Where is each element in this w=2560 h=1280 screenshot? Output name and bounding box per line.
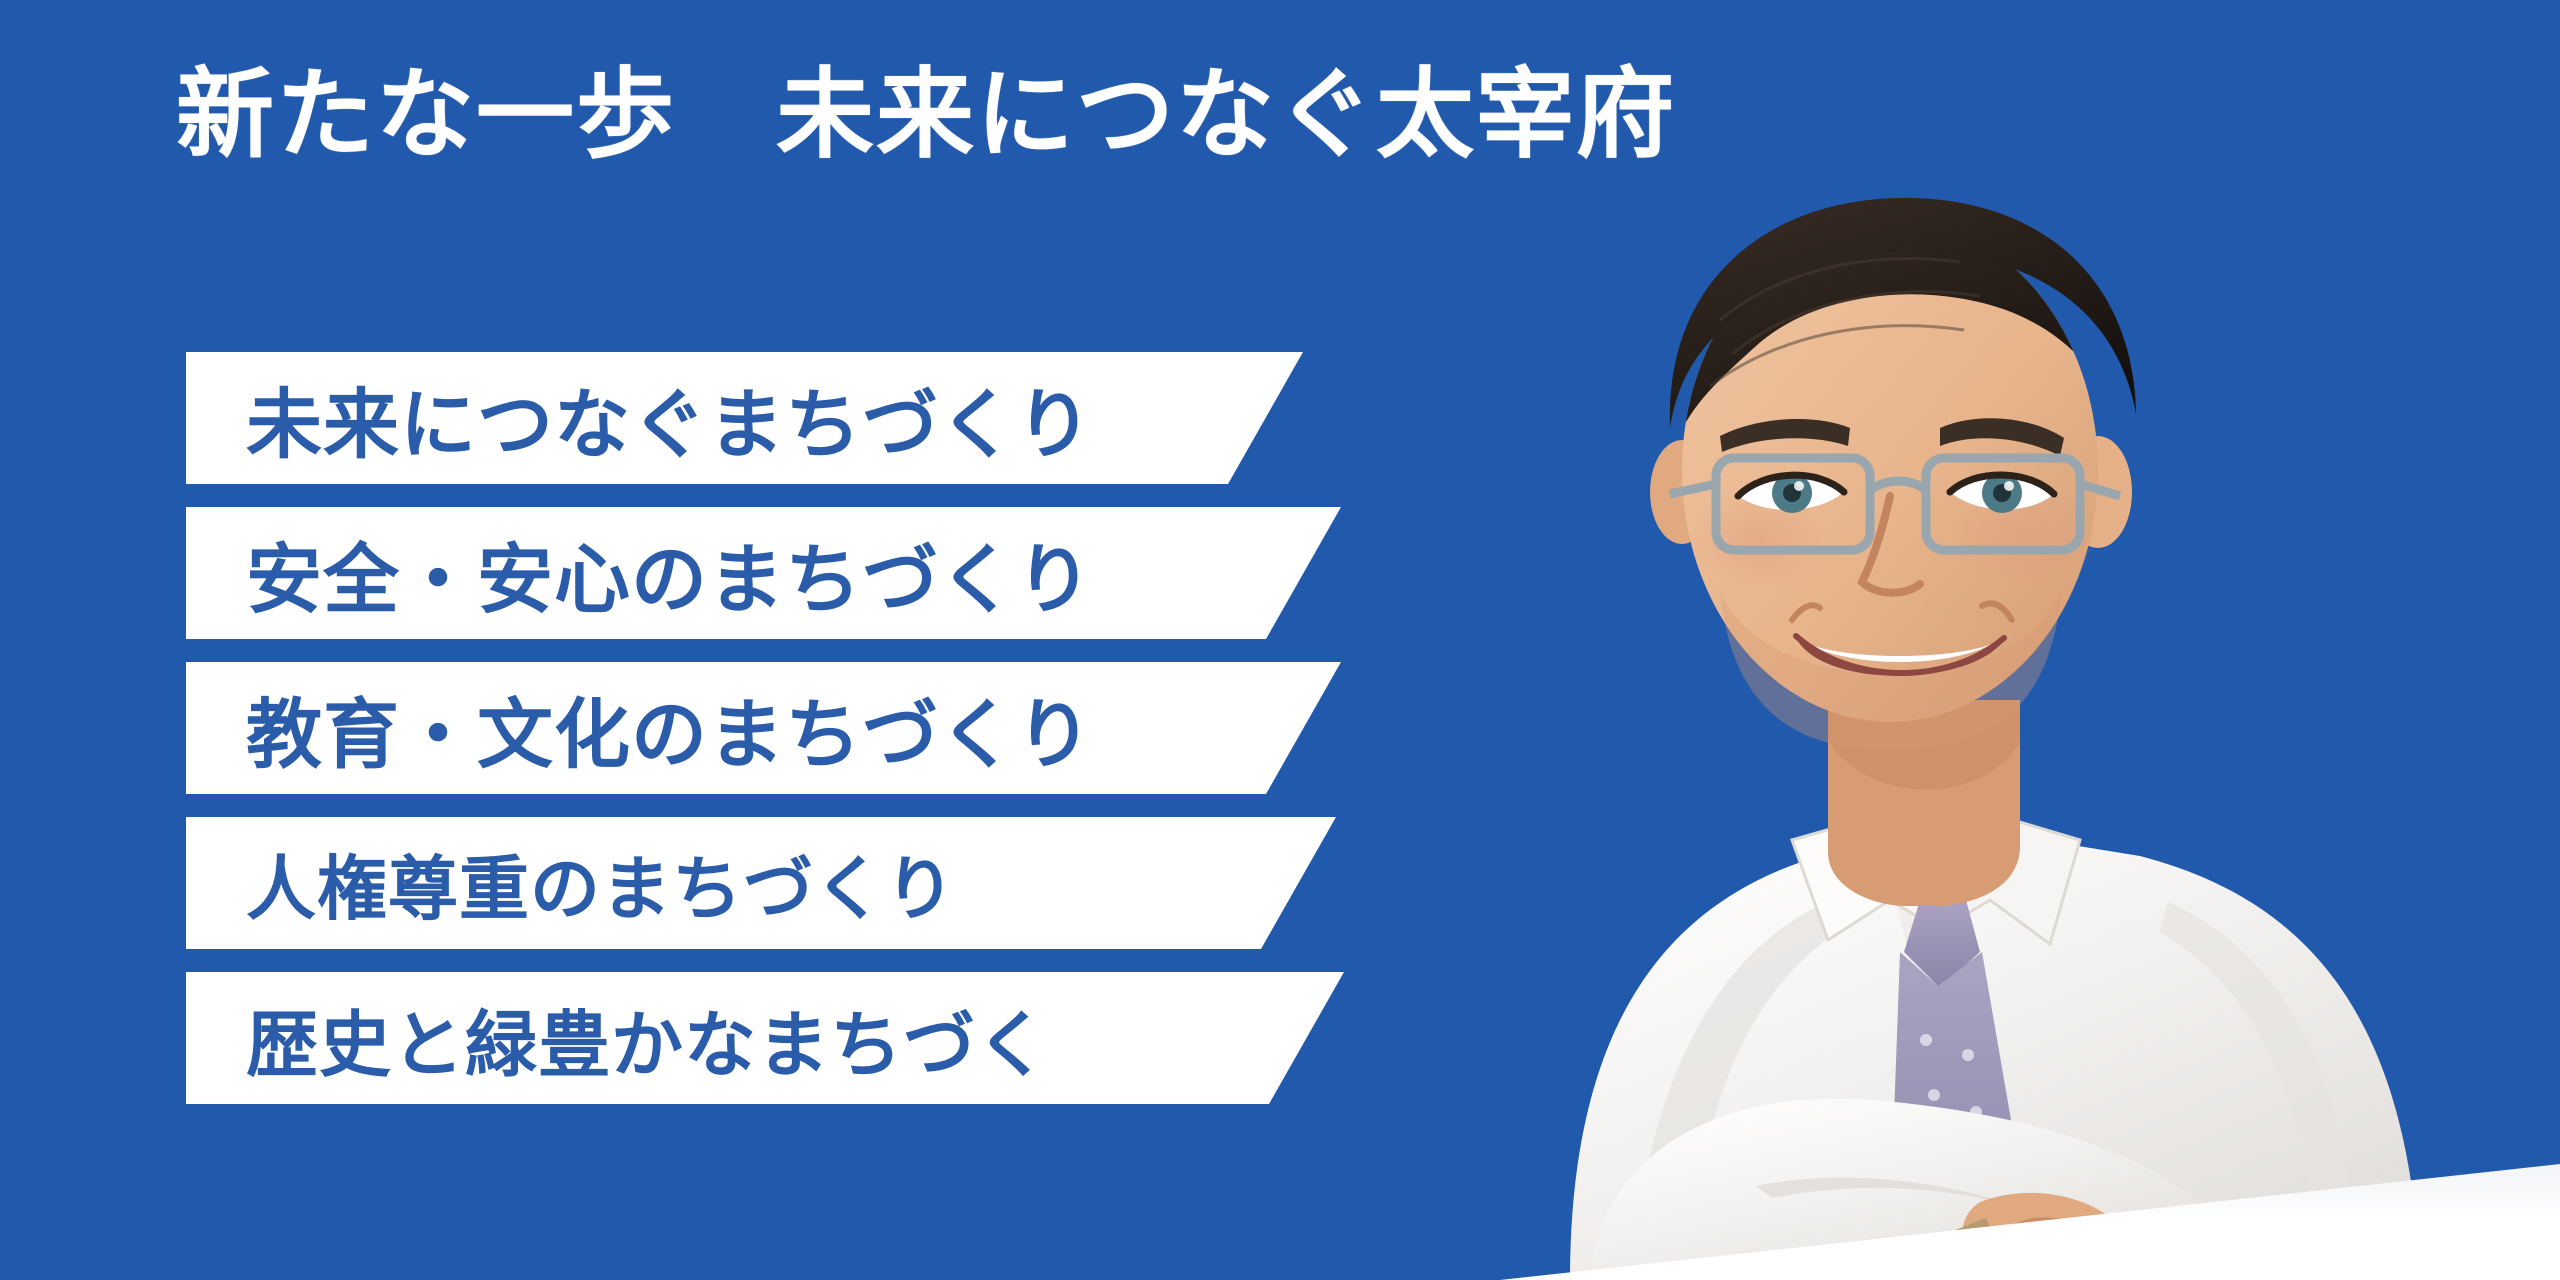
portrait-photo bbox=[1420, 140, 2560, 1280]
policy-banner-item-4[interactable]: 人権尊重のまちづくり bbox=[186, 817, 1093, 949]
face bbox=[1666, 198, 2136, 750]
policy-banner-label: 歴史と緑豊かなまちづく bbox=[246, 986, 1049, 1091]
policy-banner-label: 安全・安心のまちづくり bbox=[246, 518, 1093, 628]
policy-banner-list: 未来につなぐまちづくり 安全・安心のまちづくり 教育・文化のまちづくり 人権尊重… bbox=[186, 352, 1093, 1104]
policy-banner-item-3[interactable]: 教育・文化のまちづくり bbox=[186, 662, 1093, 794]
policy-banner-label: 教育・文化のまちづくり bbox=[246, 673, 1093, 783]
page-title: 新たな一歩 未来につなぐ太宰府 bbox=[176, 62, 1676, 170]
campaign-banner: 新たな一歩 未来につなぐ太宰府 bbox=[0, 0, 2560, 1280]
policy-banner-label: 人権尊重のまちづくり bbox=[246, 833, 956, 934]
policy-banner-item-1[interactable]: 未来につなぐまちづくり bbox=[186, 352, 1093, 484]
policy-banner-item-5[interactable]: 歴史と緑豊かなまちづく bbox=[186, 972, 1093, 1104]
policy-banner-item-2[interactable]: 安全・安心のまちづくり bbox=[186, 507, 1093, 639]
policy-banner-label: 未来につなぐまちづくり bbox=[246, 363, 1093, 473]
